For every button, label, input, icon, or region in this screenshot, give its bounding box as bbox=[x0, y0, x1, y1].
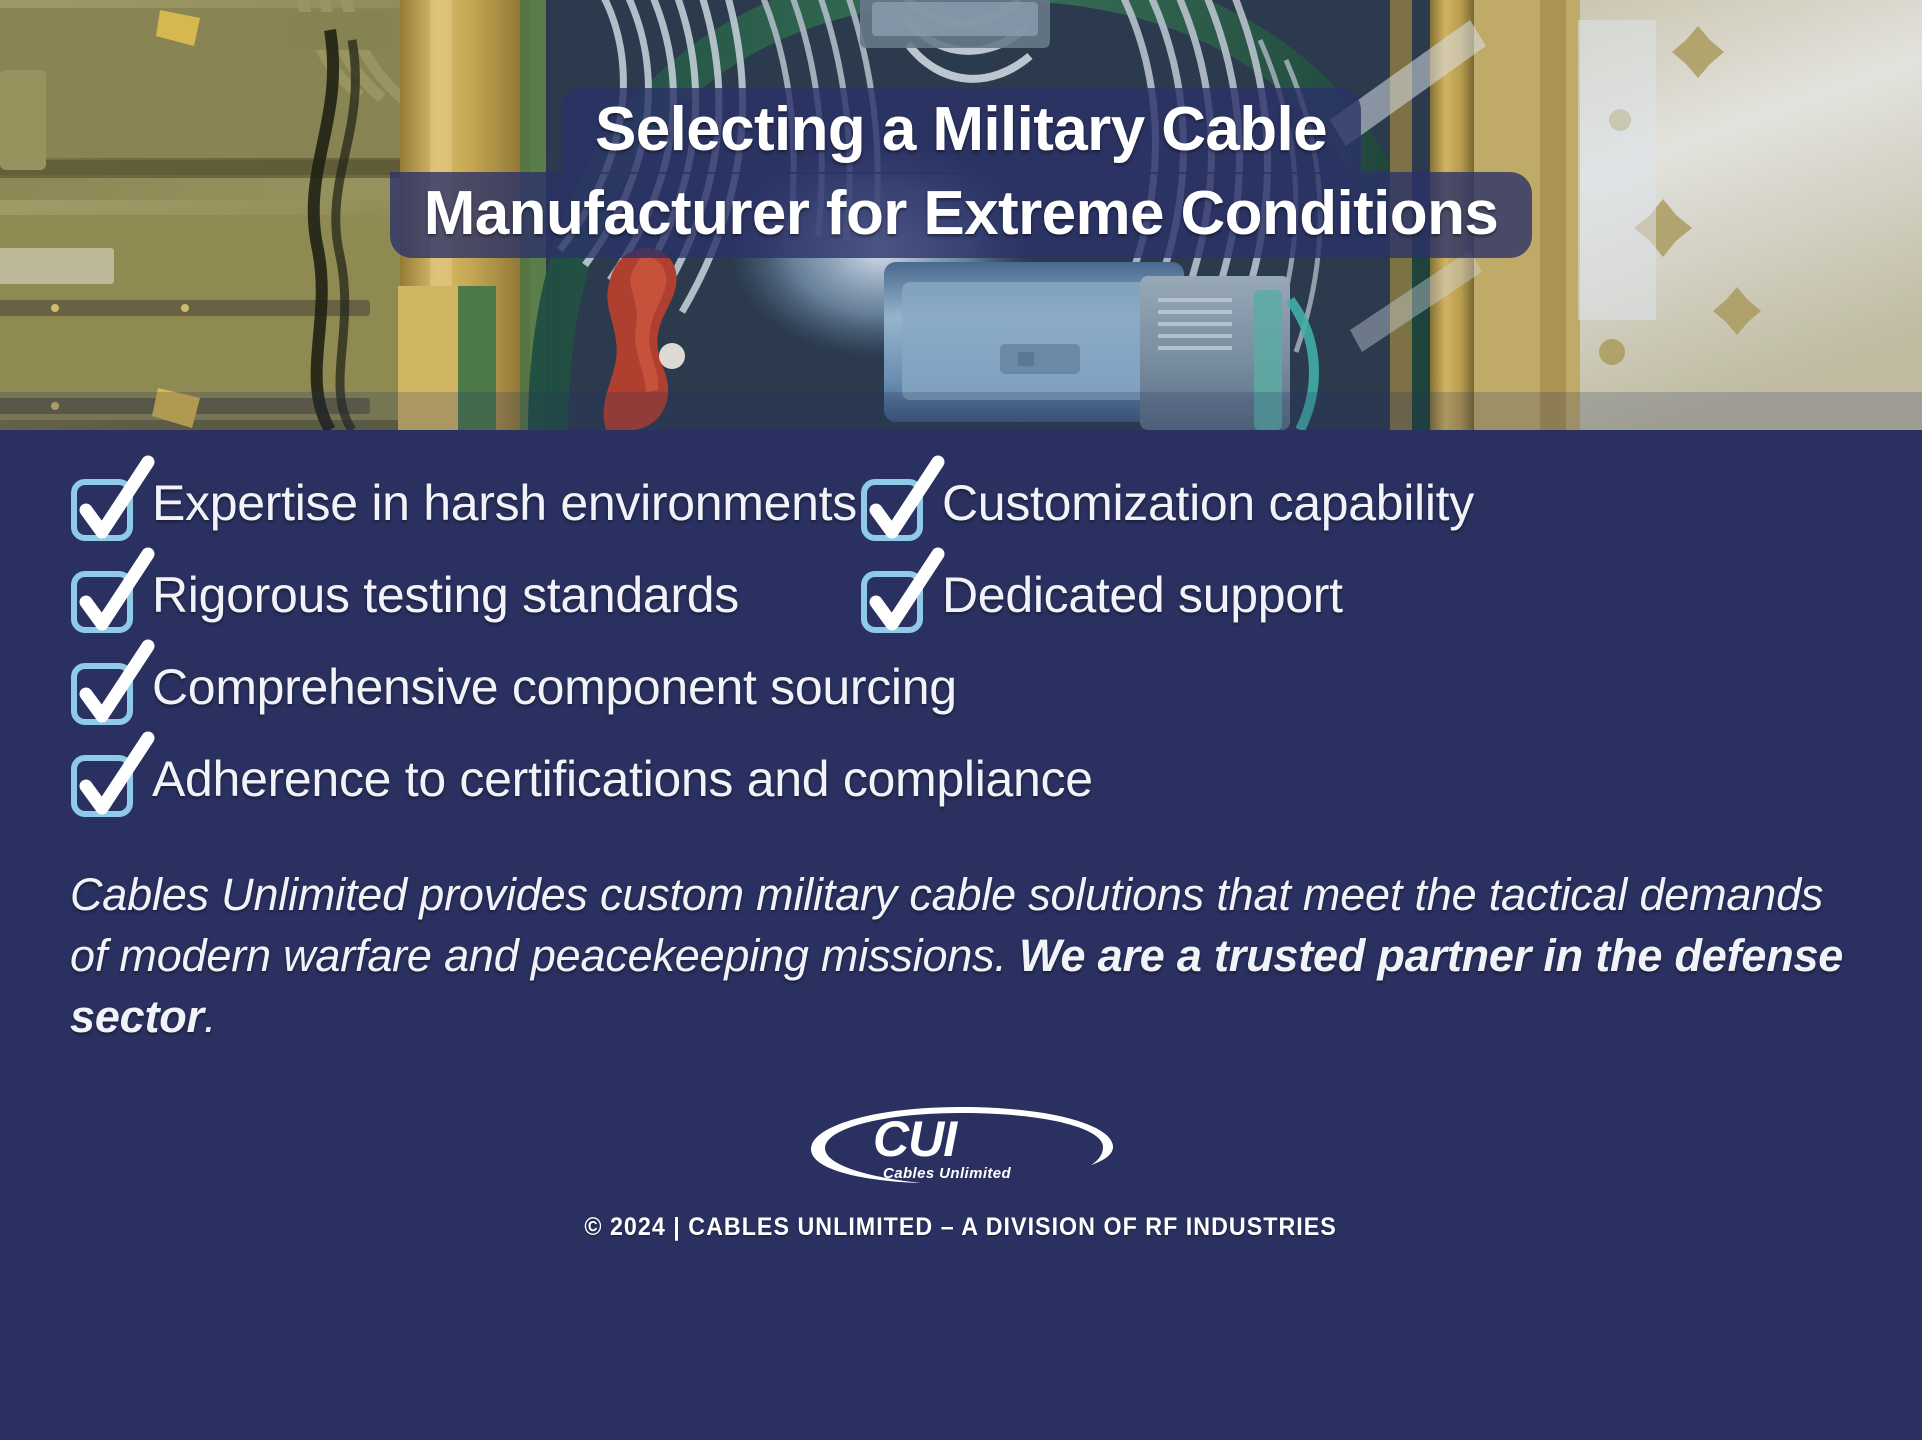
cui-cables-unlimited-logo: CUI Cables Unlimited bbox=[801, 1101, 1121, 1187]
infographic-root: Selecting a Military Cable Manufacturer … bbox=[0, 0, 1922, 1440]
checklist: Expertise in harsh environments Customiz… bbox=[0, 430, 1922, 814]
checklist-row: Adherence to certifications and complian… bbox=[0, 746, 1922, 814]
list-item: Adherence to certifications and complian… bbox=[68, 746, 1093, 814]
list-item-label: Rigorous testing standards bbox=[152, 562, 739, 628]
list-item-label: Comprehensive component sourcing bbox=[152, 654, 957, 720]
list-item: Comprehensive component sourcing bbox=[68, 654, 957, 722]
list-item-label: Expertise in harsh environments bbox=[152, 470, 857, 536]
logo-tagline: Cables Unlimited bbox=[883, 1165, 1012, 1182]
list-item: Customization capability bbox=[858, 470, 1474, 538]
copyright-text: © 2024 | CABLES UNLIMITED – A DIVISION O… bbox=[585, 1213, 1338, 1242]
list-item-label: Adherence to certifications and complian… bbox=[152, 746, 1093, 812]
checklist-row: Expertise in harsh environments Customiz… bbox=[0, 470, 1922, 538]
list-item: Dedicated support bbox=[858, 562, 1343, 630]
checkbox-checked-icon bbox=[68, 476, 130, 538]
summary-paragraph: Cables Unlimited provides custom militar… bbox=[0, 838, 1922, 1047]
checklist-row: Comprehensive component sourcing bbox=[0, 654, 1922, 722]
logo-area: CUI Cables Unlimited bbox=[0, 1047, 1922, 1187]
list-item: Expertise in harsh environments bbox=[68, 470, 858, 538]
summary-text-part2: . bbox=[204, 991, 216, 1042]
checkbox-checked-icon bbox=[858, 476, 920, 538]
military-cable-photo bbox=[0, 0, 1922, 430]
checklist-row: Rigorous testing standards Dedicated sup… bbox=[0, 562, 1922, 630]
list-item-label: Dedicated support bbox=[942, 562, 1343, 628]
list-item-label: Customization capability bbox=[942, 470, 1474, 536]
checkbox-checked-icon bbox=[68, 660, 130, 722]
checkbox-checked-icon bbox=[858, 568, 920, 630]
checkbox-checked-icon bbox=[68, 752, 130, 814]
hero-photo-section: Selecting a Military Cable Manufacturer … bbox=[0, 0, 1922, 430]
logo-wordmark: CUI bbox=[873, 1111, 958, 1167]
checkbox-checked-icon bbox=[68, 568, 130, 630]
footer: © 2024 | CABLES UNLIMITED – A DIVISION O… bbox=[0, 1187, 1922, 1242]
content-panel: Expertise in harsh environments Customiz… bbox=[0, 430, 1922, 1242]
list-item: Rigorous testing standards bbox=[68, 562, 858, 630]
